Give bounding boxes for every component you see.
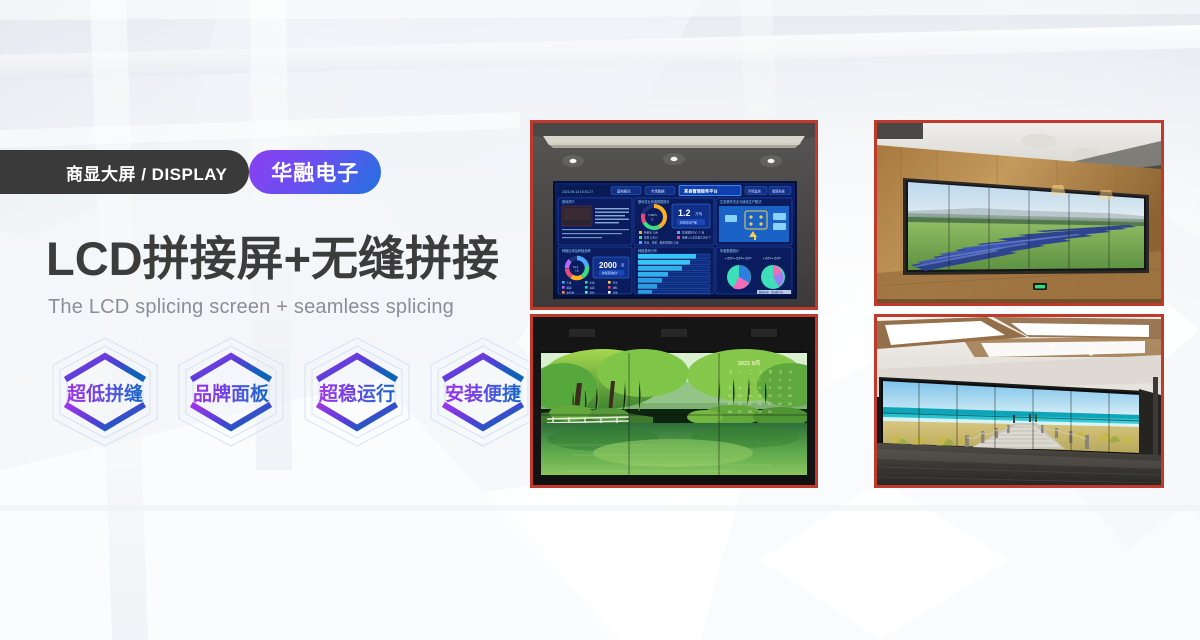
brand-badge: 华融电子 bbox=[249, 150, 381, 194]
svg-text:6: 6 bbox=[739, 386, 741, 390]
svg-text:管理系统: 管理系统 bbox=[772, 189, 786, 194]
svg-text:环境监测: 环境监测 bbox=[748, 189, 761, 194]
svg-text:26: 26 bbox=[728, 410, 732, 414]
svg-text:20: 20 bbox=[738, 402, 742, 406]
svg-text:基地概况: 基地概况 bbox=[617, 189, 631, 194]
svg-text:17: 17 bbox=[778, 394, 782, 398]
svg-text:蔬菜: 蔬菜 bbox=[567, 285, 573, 289]
svg-text:茶叶: 茶叶 bbox=[590, 290, 596, 294]
svg-text:27: 27 bbox=[738, 410, 742, 414]
feature-badge-label: 超低拼缝 bbox=[67, 379, 143, 406]
svg-text:16: 16 bbox=[768, 394, 772, 398]
feature-badge-2: 超稳运行 bbox=[296, 334, 418, 450]
category-badge-label: 商显大屏 / DISPLAY bbox=[66, 160, 227, 185]
svg-text:5: 5 bbox=[729, 386, 731, 390]
svg-text:三: 三 bbox=[759, 370, 762, 374]
svg-text:28: 28 bbox=[748, 410, 752, 414]
svg-text:19: 19 bbox=[728, 402, 732, 406]
gallery-photo-garden-lake[interactable]: 2021 9月 日一二 三四五六 1234 5678 91011 1213141… bbox=[530, 314, 818, 488]
svg-text:11: 11 bbox=[788, 386, 792, 390]
svg-text:某县管理服务平台: 某县管理服务平台 bbox=[684, 188, 718, 195]
feature-badge-list: 超低拼缝 品牌面板 bbox=[44, 334, 544, 450]
svg-text:2000: 2000 bbox=[599, 261, 617, 270]
feature-badge-3: 安装便捷 bbox=[422, 334, 544, 450]
gallery-photo-dashboard[interactable]: 2021.09.13 10:31:27 基地概况 市场数据 某县管理服务平台 环… bbox=[530, 120, 818, 310]
svg-text:万吨: 万吨 bbox=[695, 211, 703, 216]
gallery-photo-solar-farm[interactable] bbox=[874, 120, 1164, 306]
svg-text:1: 1 bbox=[759, 378, 761, 382]
gallery-photo-beach-boardwalk[interactable] bbox=[874, 314, 1164, 488]
svg-text:四: 四 bbox=[769, 370, 772, 374]
svg-text:渔业、林果、粮油等面积 万亩: 渔业、林果、粮油等面积 万亩 bbox=[644, 241, 679, 245]
svg-text:种植业 万亩: 种植业 万亩 bbox=[644, 231, 658, 235]
photo-image: 2021.09.13 10:31:27 基地概况 市场数据 某县管理服务平台 环… bbox=[533, 123, 815, 307]
svg-text:22: 22 bbox=[758, 402, 762, 406]
banner-root: 商显大屏 / DISPLAY 华融电子 LCD拼接屏+无缝拼接 The LCD … bbox=[0, 0, 1200, 640]
svg-text:小麦: 小麦 bbox=[567, 280, 573, 284]
svg-text:14: 14 bbox=[748, 394, 752, 398]
svg-text:4: 4 bbox=[789, 378, 791, 382]
svg-text:日: 日 bbox=[729, 370, 732, 374]
svg-text:23: 23 bbox=[768, 402, 772, 406]
svg-text:24: 24 bbox=[778, 402, 782, 406]
photo-image: 2021 9月 日一二 三四五六 1234 5678 91011 1213141… bbox=[533, 317, 815, 485]
svg-text:● 类型A ● 类型B: ● 类型A ● 类型B bbox=[763, 256, 781, 260]
svg-text:1.2: 1.2 bbox=[678, 208, 691, 218]
brand-badge-label: 华融电子 bbox=[271, 157, 359, 187]
feature-badge-label: 超稳运行 bbox=[319, 379, 395, 406]
svg-text:10: 10 bbox=[778, 386, 782, 390]
svg-text:油料: 油料 bbox=[613, 285, 619, 289]
page-title: LCD拼接屏+无缝拼接 bbox=[46, 234, 499, 285]
svg-text:数据来源：某县统计局: 数据来源：某县统计局 bbox=[759, 290, 784, 294]
svg-text:瓜果: 瓜果 bbox=[590, 285, 596, 289]
svg-text:区域服务中心 个 处: 区域服务中心 个 处 bbox=[682, 231, 705, 235]
svg-text:13: 13 bbox=[738, 394, 742, 398]
svg-text:畜牧 万头只: 畜牧 万头只 bbox=[644, 236, 658, 240]
svg-text:29: 29 bbox=[758, 410, 762, 414]
svg-text:基地农业资源数据统计: 基地农业资源数据统计 bbox=[638, 199, 671, 204]
svg-text:玉米: 玉米 bbox=[613, 280, 619, 284]
svg-text:生态循环农业与绿色生产模式: 生态循环农业与绿色生产模式 bbox=[720, 199, 762, 204]
svg-text:水稻: 水稻 bbox=[590, 280, 596, 284]
svg-text:30: 30 bbox=[768, 410, 772, 414]
brand-badge-row: 商显大屏 / DISPLAY 华融电子 bbox=[48, 150, 381, 194]
feature-badge-0: 超低拼缝 bbox=[44, 334, 166, 450]
svg-text:中药材: 中药材 bbox=[567, 290, 575, 294]
svg-text:7: 7 bbox=[749, 386, 751, 390]
svg-text:12: 12 bbox=[728, 394, 732, 398]
svg-text:2021.09.13 10:31:27: 2021.09.13 10:31:27 bbox=[562, 190, 593, 194]
svg-text:种植区域及种植品种: 种植区域及种植品种 bbox=[562, 248, 591, 253]
svg-text:51.3: 51.3 bbox=[573, 265, 579, 269]
svg-text:● 类型A ● 类型B ● 类型C: ● 类型A ● 类型B ● 类型C bbox=[725, 256, 752, 260]
svg-text:21: 21 bbox=[748, 402, 752, 406]
feature-badge-label: 安装便捷 bbox=[445, 379, 521, 406]
svg-text:市场数据: 市场数据 bbox=[651, 189, 665, 194]
svg-text:8: 8 bbox=[759, 386, 761, 390]
svg-text:9: 9 bbox=[769, 386, 771, 390]
svg-text:25: 25 bbox=[788, 402, 792, 406]
photo-image bbox=[877, 123, 1161, 303]
svg-text:3: 3 bbox=[779, 378, 781, 382]
svg-text:2021 9月: 2021 9月 bbox=[738, 359, 760, 367]
svg-text:基地简介: 基地简介 bbox=[562, 199, 576, 204]
feature-badge-label: 品牌面板 bbox=[193, 379, 269, 406]
svg-text:种植基地分布: 种植基地分布 bbox=[638, 248, 657, 253]
svg-text:基地年总产量: 基地年总产量 bbox=[680, 221, 697, 225]
svg-text:二: 二 bbox=[749, 370, 752, 374]
svg-text:种植面积统计: 种植面积统计 bbox=[602, 271, 618, 275]
svg-text:7,030.5: 7,030.5 bbox=[648, 213, 657, 217]
svg-text:2: 2 bbox=[769, 378, 771, 382]
photo-image bbox=[877, 317, 1161, 485]
svg-text:18: 18 bbox=[788, 394, 792, 398]
svg-text:年度数据统计: 年度数据统计 bbox=[720, 248, 740, 253]
svg-text:其他: 其他 bbox=[613, 290, 619, 294]
feature-badge-1: 品牌面板 bbox=[170, 334, 292, 450]
category-badge: 商显大屏 / DISPLAY bbox=[0, 150, 249, 194]
page-subtitle: The LCD splicing screen + seamless splic… bbox=[48, 296, 454, 319]
svg-text:15: 15 bbox=[758, 394, 762, 398]
svg-text:规模以上龙头加工企业 个: 规模以上龙头加工企业 个 bbox=[682, 236, 712, 240]
